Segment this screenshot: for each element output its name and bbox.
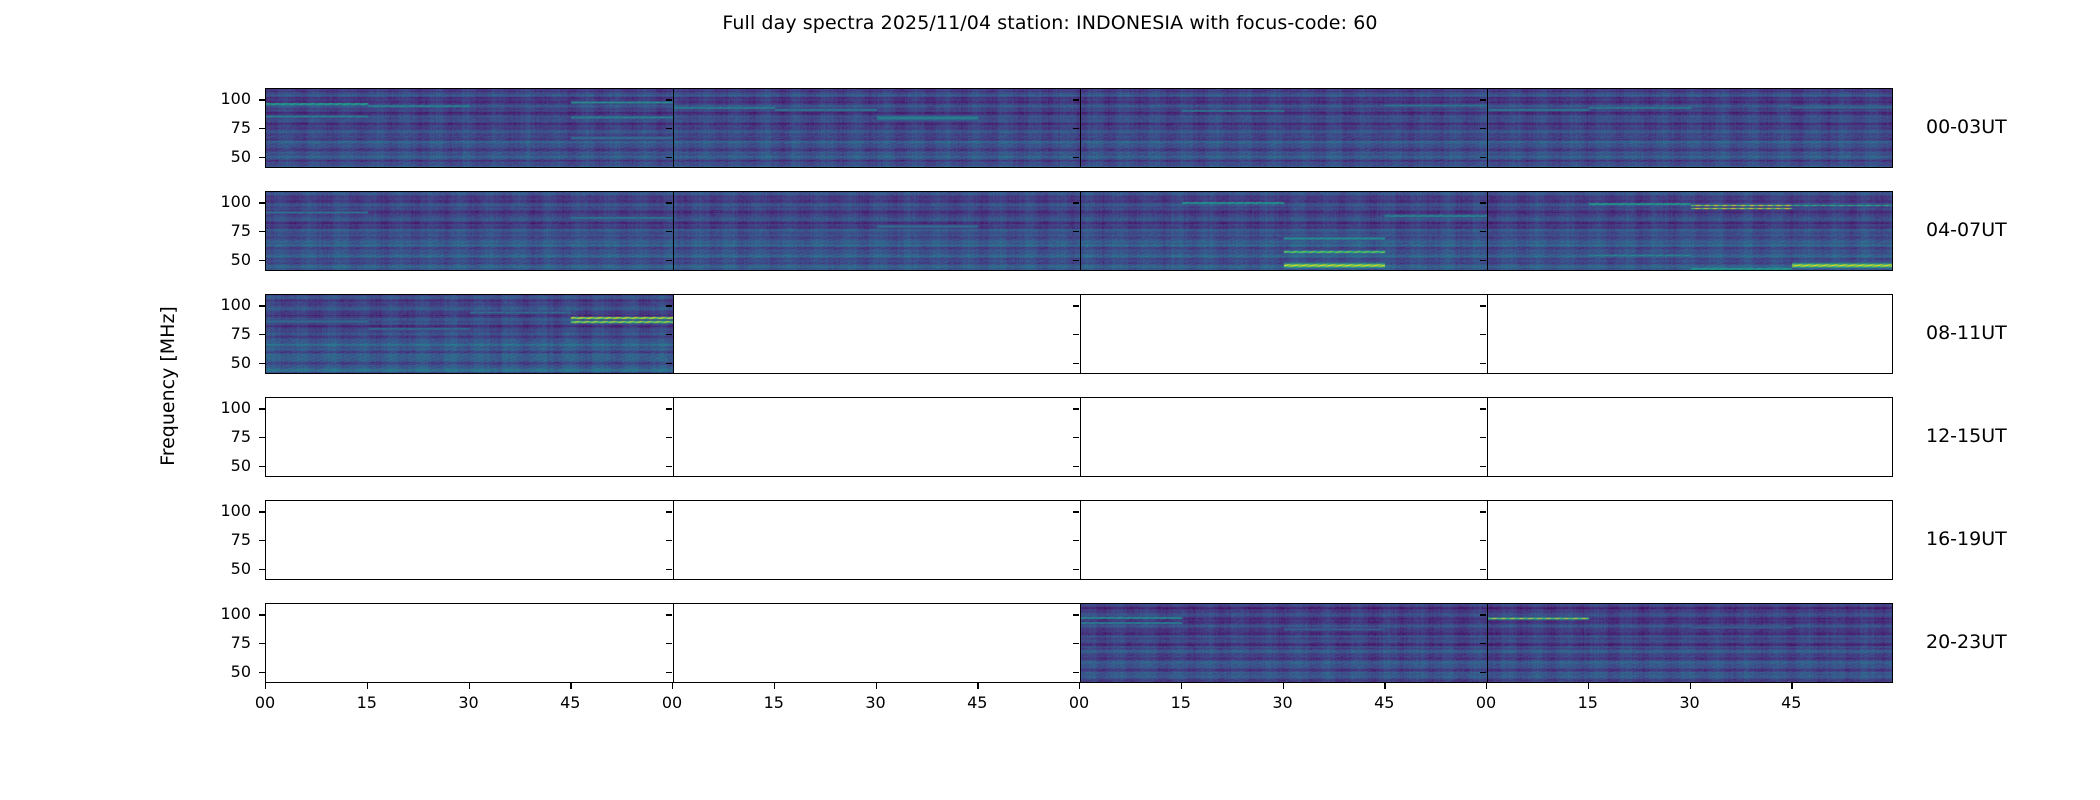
x-tick-mark	[1486, 683, 1487, 689]
x-tick-label: 45	[1761, 693, 1821, 712]
y-tick-mark-inner	[1073, 260, 1079, 261]
x-tick-label: 30	[1660, 693, 1720, 712]
y-tick-mark	[259, 437, 265, 438]
y-tick-mark	[259, 334, 265, 335]
y-tick-mark-inner	[1480, 466, 1486, 467]
y-tick-mark-inner	[666, 643, 672, 644]
y-tick-mark-inner	[1073, 128, 1079, 129]
panel-separator	[1487, 398, 1488, 476]
y-tick-label: 100	[185, 501, 251, 520]
y-tick-mark-inner	[1480, 540, 1486, 541]
y-tick-mark-inner	[1480, 305, 1486, 306]
x-tick-mark	[1690, 683, 1691, 689]
y-tick-mark-inner	[666, 260, 672, 261]
y-tick-mark-inner	[1480, 231, 1486, 232]
y-tick-mark-inner	[1073, 437, 1079, 438]
y-tick-mark	[259, 363, 265, 364]
y-tick-mark-inner	[1480, 128, 1486, 129]
x-tick-label: 15	[1558, 693, 1618, 712]
panel-separator	[1487, 501, 1488, 579]
y-tick-mark-inner	[1073, 157, 1079, 158]
y-tick-label: 50	[185, 250, 251, 269]
y-tick-mark-inner	[666, 363, 672, 364]
panel-separator	[1080, 192, 1081, 270]
y-tick-mark-inner	[1480, 157, 1486, 158]
y-tick-mark-inner	[1480, 672, 1486, 673]
x-tick-mark	[977, 683, 978, 689]
spectrogram-row-00-03ut	[265, 88, 1893, 168]
y-tick-mark-inner	[1480, 334, 1486, 335]
x-tick-label: 30	[1253, 693, 1313, 712]
x-tick-mark	[1384, 683, 1385, 689]
y-tick-mark	[259, 466, 265, 467]
y-tick-label: 50	[185, 147, 251, 166]
y-tick-label: 100	[185, 192, 251, 211]
panel-separator	[673, 192, 674, 270]
y-tick-mark	[259, 128, 265, 129]
y-tick-mark-inner	[666, 157, 672, 158]
y-tick-mark-inner	[1073, 305, 1079, 306]
y-tick-mark-inner	[666, 511, 672, 512]
y-tick-mark-inner	[1073, 569, 1079, 570]
y-tick-mark-inner	[666, 202, 672, 203]
y-tick-mark	[259, 305, 265, 306]
panel-separator	[673, 501, 674, 579]
x-tick-label: 00	[642, 693, 702, 712]
y-tick-mark-inner	[1480, 437, 1486, 438]
y-tick-mark	[259, 408, 265, 409]
panel-separator	[1080, 501, 1081, 579]
y-tick-mark-inner	[1073, 99, 1079, 100]
row-label-08-11ut: 08-11UT	[1926, 322, 2007, 344]
y-tick-label: 100	[185, 398, 251, 417]
y-tick-mark-inner	[1073, 363, 1079, 364]
x-tick-label: 45	[1354, 693, 1414, 712]
panel-separator	[673, 89, 674, 167]
y-tick-label: 75	[185, 633, 251, 652]
row-label-00-03ut: 00-03UT	[1926, 116, 2007, 138]
y-tick-label: 50	[185, 662, 251, 681]
y-tick-mark-inner	[1480, 363, 1486, 364]
spectrogram-row-08-11ut	[265, 294, 1893, 374]
y-tick-label: 50	[185, 456, 251, 475]
y-tick-mark-inner	[1073, 672, 1079, 673]
x-tick-label: 15	[1151, 693, 1211, 712]
y-tick-mark-inner	[1073, 202, 1079, 203]
y-tick-mark	[259, 643, 265, 644]
y-tick-label: 75	[185, 118, 251, 137]
spectrogram-row-12-15ut	[265, 397, 1893, 477]
row-label-12-15ut: 12-15UT	[1926, 425, 2007, 447]
row-label-20-23ut: 20-23UT	[1926, 631, 2007, 653]
y-tick-mark-inner	[666, 614, 672, 615]
y-tick-mark	[259, 231, 265, 232]
x-tick-label: 30	[439, 693, 499, 712]
spectrogram-row-20-23ut	[265, 603, 1893, 683]
x-tick-mark	[1588, 683, 1589, 689]
y-tick-mark-inner	[1480, 408, 1486, 409]
y-tick-mark-inner	[1480, 260, 1486, 261]
x-tick-label: 45	[540, 693, 600, 712]
y-axis-label: Frequency [MHz]	[157, 306, 179, 466]
y-tick-label: 75	[185, 427, 251, 446]
y-tick-mark-inner	[666, 540, 672, 541]
y-tick-mark-inner	[1073, 540, 1079, 541]
y-tick-mark-inner	[1480, 643, 1486, 644]
x-tick-label: 00	[235, 693, 295, 712]
y-tick-mark-inner	[666, 437, 672, 438]
x-tick-label: 00	[1456, 693, 1516, 712]
spectrogram-row-16-19ut	[265, 500, 1893, 580]
y-tick-label: 50	[185, 559, 251, 578]
y-tick-mark-inner	[666, 99, 672, 100]
y-tick-mark	[259, 511, 265, 512]
spectrogram-image	[266, 295, 673, 374]
y-tick-mark	[259, 157, 265, 158]
x-tick-mark	[570, 683, 571, 689]
x-tick-label: 15	[744, 693, 804, 712]
y-tick-mark-inner	[1480, 202, 1486, 203]
y-tick-mark	[259, 202, 265, 203]
y-tick-label: 75	[185, 221, 251, 240]
y-tick-mark-inner	[1073, 614, 1079, 615]
y-tick-mark-inner	[1480, 99, 1486, 100]
y-tick-label: 100	[185, 89, 251, 108]
panel-separator	[1080, 295, 1081, 373]
y-tick-mark	[259, 540, 265, 541]
y-tick-mark	[259, 614, 265, 615]
y-tick-mark-inner	[1073, 231, 1079, 232]
panel-separator	[1487, 192, 1488, 270]
x-tick-mark	[265, 683, 266, 689]
y-tick-mark	[259, 672, 265, 673]
y-tick-mark-inner	[666, 408, 672, 409]
y-tick-mark-inner	[666, 231, 672, 232]
y-tick-mark	[259, 99, 265, 100]
y-tick-mark-inner	[666, 466, 672, 467]
y-tick-label: 100	[185, 604, 251, 623]
y-tick-mark-inner	[1073, 466, 1079, 467]
y-tick-label: 100	[185, 295, 251, 314]
x-tick-label: 00	[1049, 693, 1109, 712]
x-tick-mark	[876, 683, 877, 689]
y-tick-label: 50	[185, 353, 251, 372]
y-tick-mark-inner	[1480, 569, 1486, 570]
row-label-04-07ut: 04-07UT	[1926, 219, 2007, 241]
x-tick-mark	[469, 683, 470, 689]
x-tick-label: 30	[846, 693, 906, 712]
row-label-16-19ut: 16-19UT	[1926, 528, 2007, 550]
y-tick-mark-inner	[666, 672, 672, 673]
y-tick-mark-inner	[1480, 511, 1486, 512]
x-tick-label: 45	[947, 693, 1007, 712]
y-tick-mark	[259, 569, 265, 570]
y-tick-mark-inner	[1073, 408, 1079, 409]
panel-separator	[673, 398, 674, 476]
panel-separator	[673, 295, 674, 373]
y-tick-mark-inner	[1480, 614, 1486, 615]
x-tick-mark	[1079, 683, 1080, 689]
panel-separator	[1487, 604, 1488, 682]
x-tick-mark	[367, 683, 368, 689]
x-tick-mark	[1791, 683, 1792, 689]
y-tick-label: 75	[185, 530, 251, 549]
y-tick-mark-inner	[1073, 334, 1079, 335]
y-tick-mark-inner	[666, 569, 672, 570]
y-tick-mark-inner	[1073, 643, 1079, 644]
y-tick-mark-inner	[666, 334, 672, 335]
y-tick-mark-inner	[666, 305, 672, 306]
figure-title: Full day spectra 2025/11/04 station: IND…	[0, 12, 2100, 34]
spectra-figure: Full day spectra 2025/11/04 station: IND…	[0, 0, 2100, 800]
y-tick-mark-inner	[666, 128, 672, 129]
y-tick-mark	[259, 260, 265, 261]
panel-separator	[673, 604, 674, 682]
x-tick-mark	[1181, 683, 1182, 689]
panel-separator	[1487, 295, 1488, 373]
panel-separator	[1080, 604, 1081, 682]
panel-separator	[1080, 398, 1081, 476]
x-tick-mark	[774, 683, 775, 689]
y-tick-mark-inner	[1073, 511, 1079, 512]
spectrogram-row-04-07ut	[265, 191, 1893, 271]
y-tick-label: 75	[185, 324, 251, 343]
x-tick-mark	[672, 683, 673, 689]
panel-separator	[1487, 89, 1488, 167]
x-tick-label: 15	[337, 693, 397, 712]
panel-separator	[1080, 89, 1081, 167]
x-tick-mark	[1283, 683, 1284, 689]
